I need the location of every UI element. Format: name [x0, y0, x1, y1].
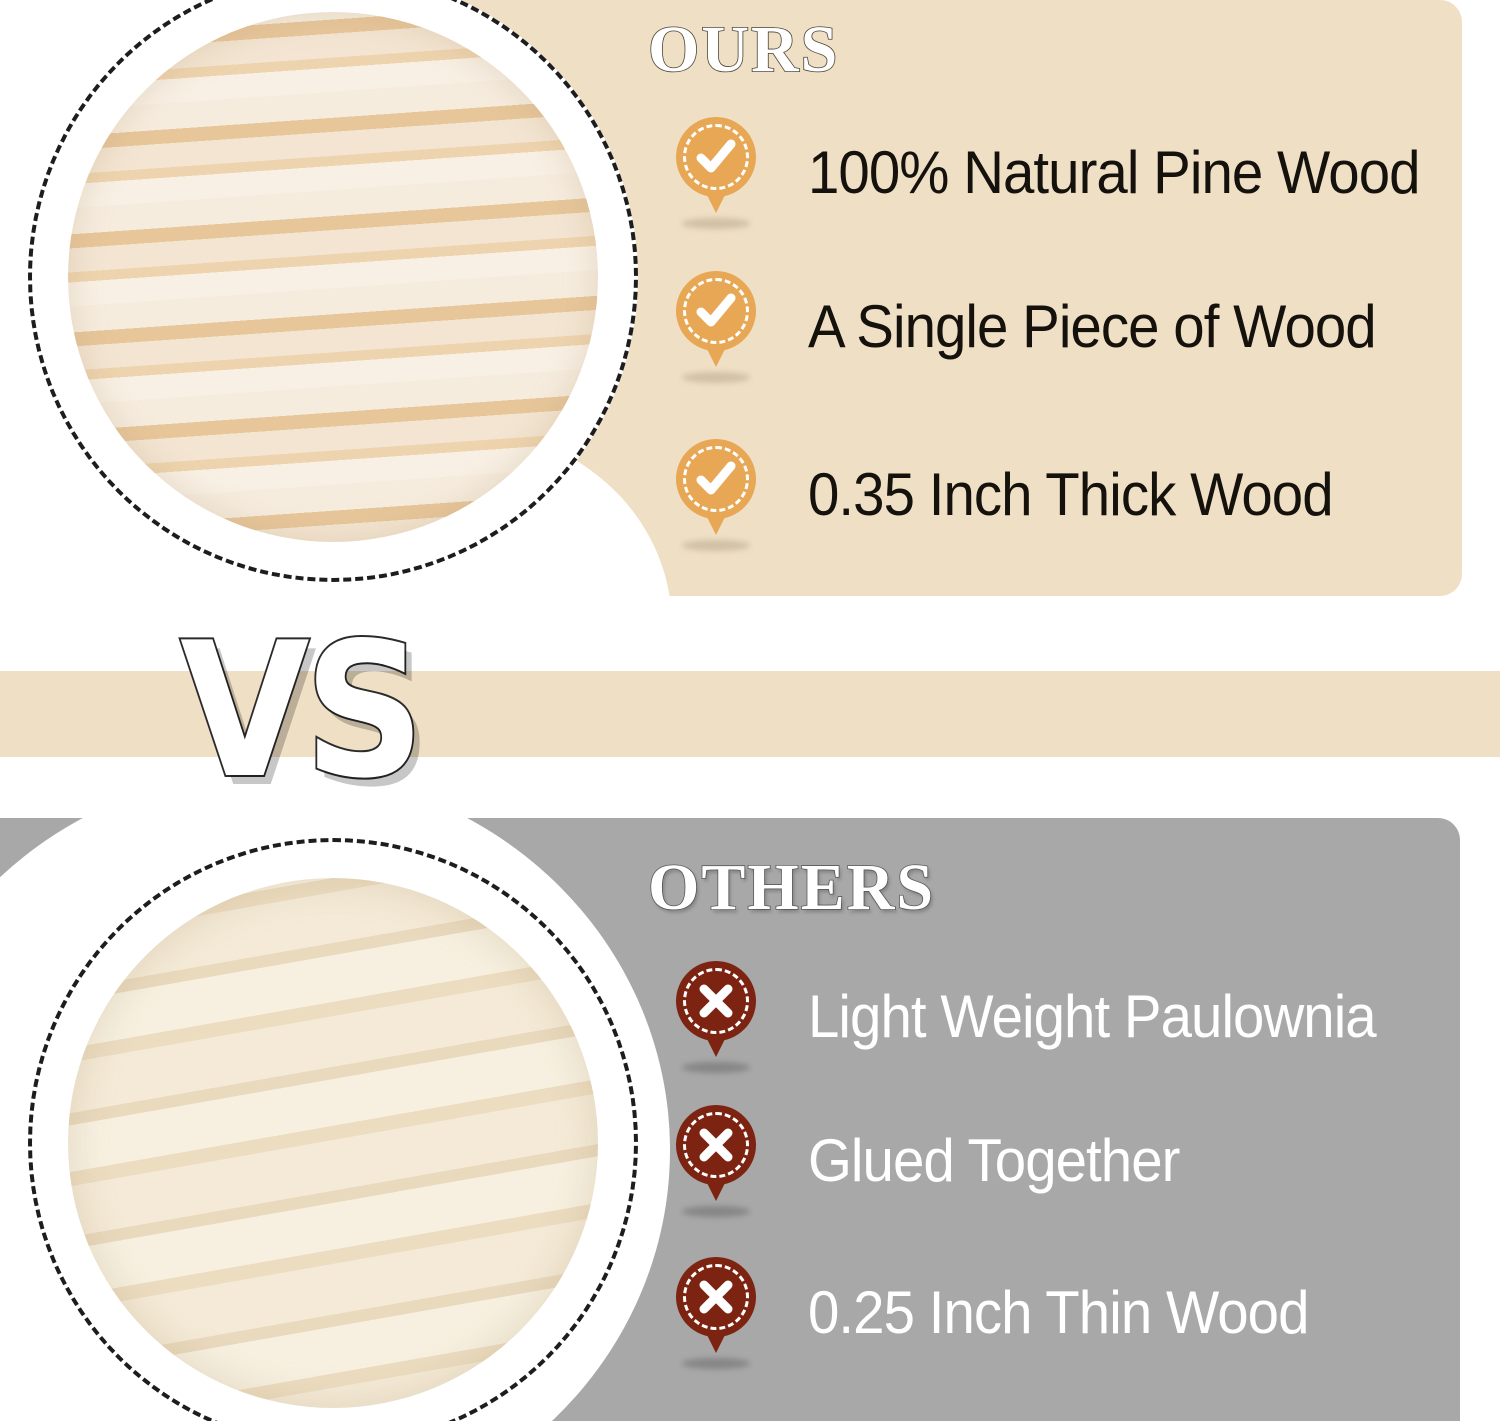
pin-bubble [676, 1105, 756, 1185]
pin-bubble [676, 439, 756, 519]
pin-dashed-ring [683, 968, 749, 1034]
pin-dashed-ring [683, 1264, 749, 1330]
others-feature-label: 0.25 Inch Thin Wood [808, 1283, 1309, 1343]
pin-shadow [682, 1358, 750, 1369]
comparison-infographic: OURS 100% Natural Pine Wood A [0, 0, 1500, 1421]
cross-icon [668, 1105, 764, 1217]
others-feature-row: Glued Together [668, 1106, 1203, 1216]
others-heading: OTHERS [648, 855, 935, 921]
others-feature-label: Light Weight Paulownia [808, 987, 1376, 1047]
pin-bubble [676, 961, 756, 1041]
ours-feature-row: A Single Piece of Wood [668, 272, 1412, 382]
vs-label: VS [180, 618, 419, 804]
ours-feature-label: A Single Piece of Wood [808, 297, 1376, 357]
pin-dashed-ring [683, 446, 749, 512]
others-wood-swatch [28, 838, 638, 1421]
pin-shadow [682, 218, 750, 229]
pin-dashed-ring [683, 1112, 749, 1178]
pin-bubble [676, 1257, 756, 1337]
pin-shadow [682, 1206, 750, 1217]
check-icon [668, 271, 764, 383]
others-feature-row: 0.25 Inch Thin Wood [668, 1258, 1340, 1368]
cross-icon [668, 961, 764, 1073]
ours-wood-swatch [28, 0, 638, 582]
dashed-circle-border [28, 838, 638, 1421]
ours-feature-label: 0.35 Inch Thick Wood [808, 465, 1333, 525]
others-feature-label: Glued Together [808, 1131, 1179, 1191]
ours-feature-label: 100% Natural Pine Wood [808, 143, 1420, 203]
pin-shadow [682, 540, 750, 551]
ours-feature-row: 100% Natural Pine Wood [668, 118, 1459, 228]
cross-icon [668, 1257, 764, 1369]
pin-shadow [682, 372, 750, 383]
pin-dashed-ring [683, 278, 749, 344]
ours-heading: OURS [648, 17, 839, 83]
pin-bubble [676, 271, 756, 351]
pin-bubble [676, 117, 756, 197]
check-icon [668, 117, 764, 229]
check-icon [668, 439, 764, 551]
pin-dashed-ring [683, 124, 749, 190]
pin-shadow [682, 1062, 750, 1073]
ours-feature-row: 0.35 Inch Thick Wood [668, 440, 1366, 550]
dashed-circle-border [28, 0, 638, 582]
others-feature-row: Light Weight Paulownia [668, 962, 1412, 1072]
